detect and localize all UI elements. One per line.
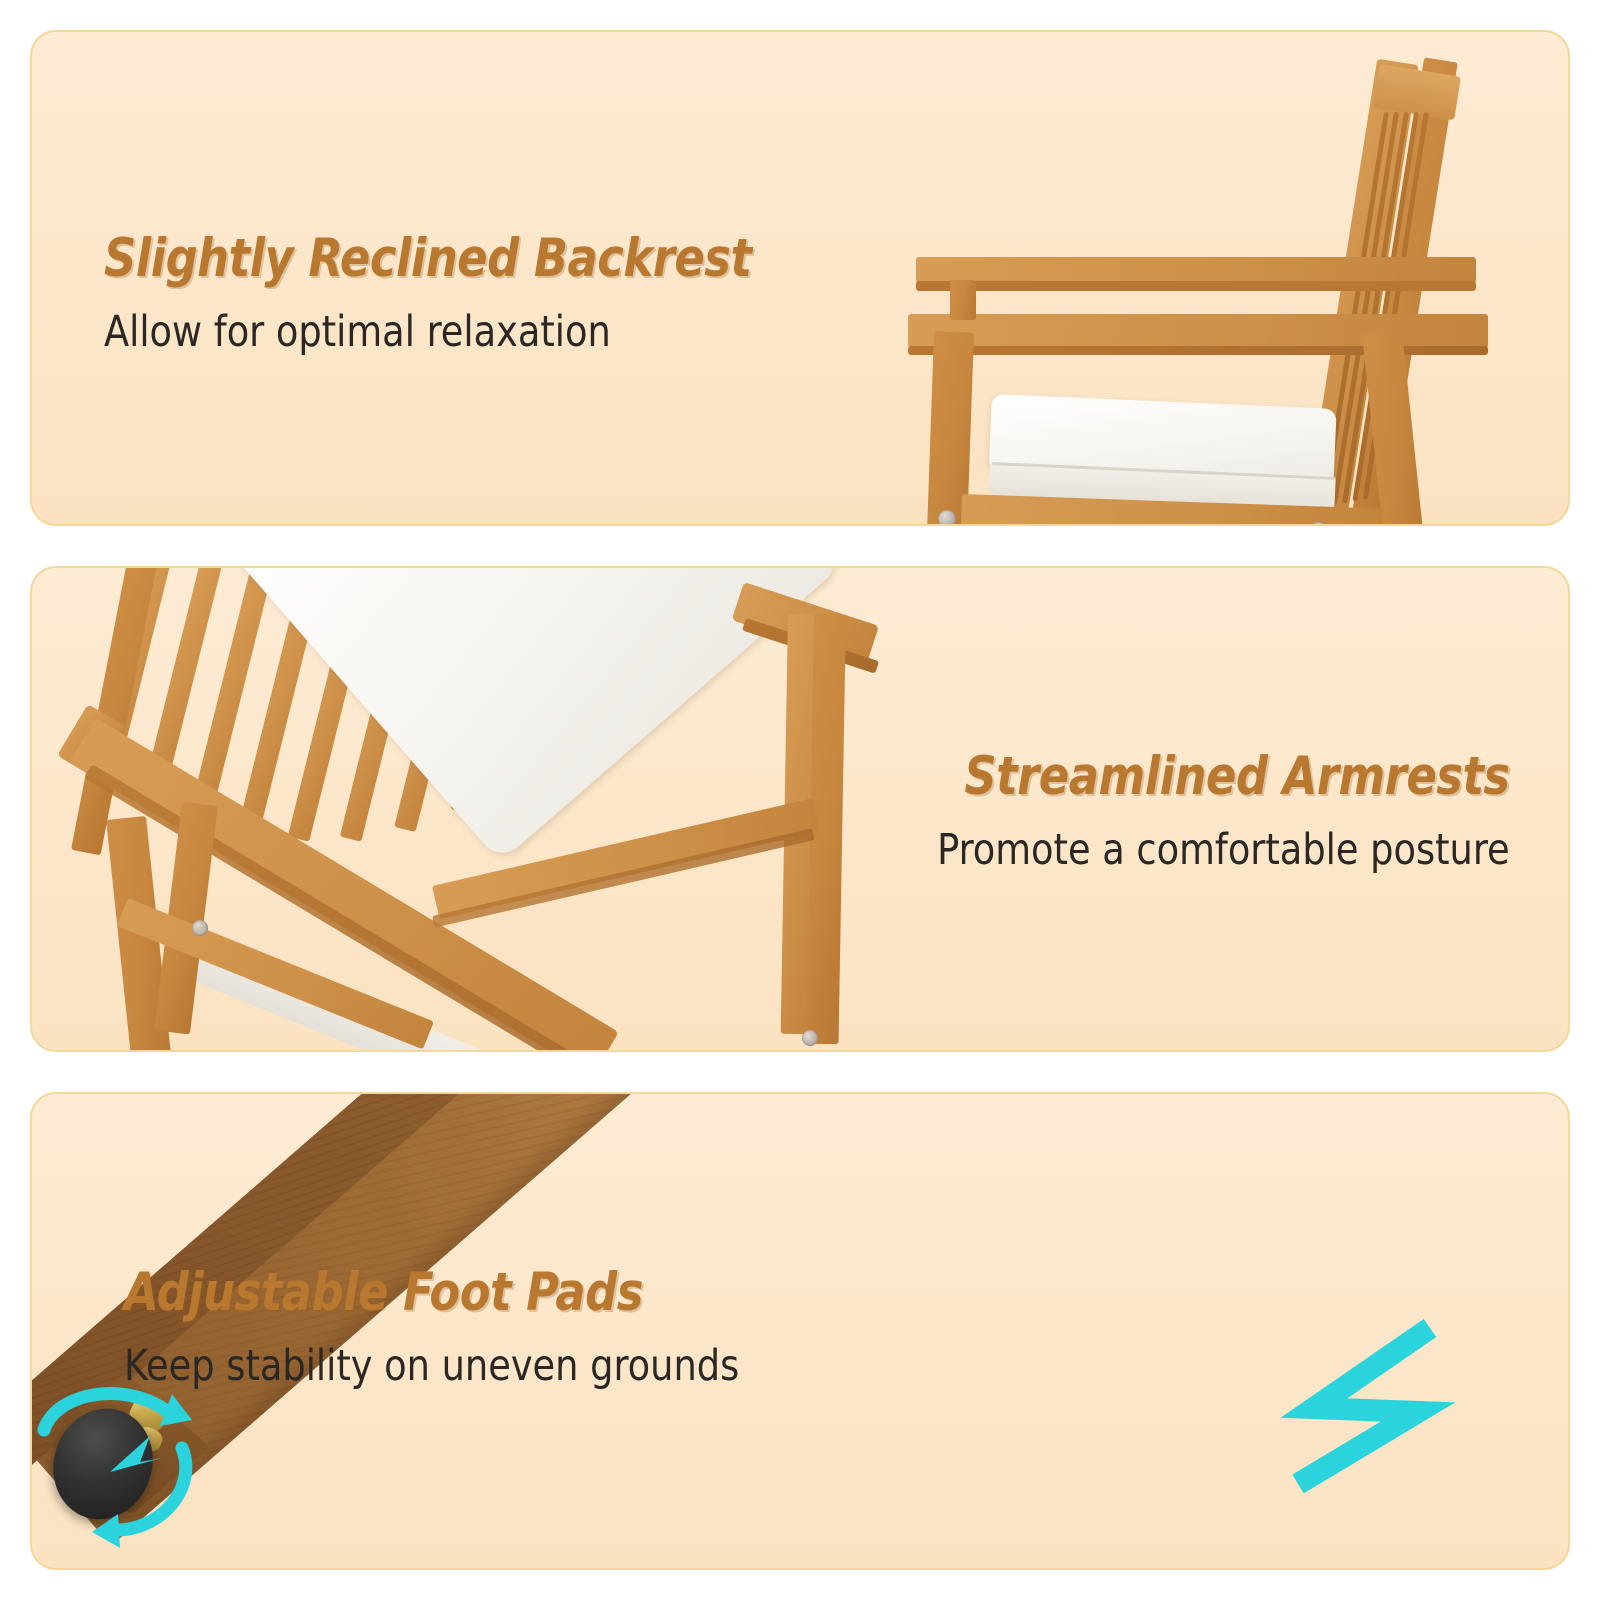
panel-3-text-block: Adjustable Foot Pads Keep stability on u… xyxy=(124,1262,772,1391)
panel-reclined-backrest: Slightly Reclined Backrest Allow for opt… xyxy=(30,30,1570,526)
panel-2-headline: Streamlined Armrests xyxy=(944,746,1510,807)
panel-3-headline: Adjustable Foot Pads xyxy=(124,1262,733,1323)
panel-1-text-block: Slightly Reclined Backrest Allow for opt… xyxy=(104,228,793,357)
panel-3-subline: Keep stability on uneven grounds xyxy=(124,1341,739,1391)
panel-2-subline: Promote a comfortable posture xyxy=(937,825,1510,875)
panel-adjustable-foot-pads: Adjustable Foot Pads Keep stability on u… xyxy=(30,1092,1570,1570)
panel-1-headline: Slightly Reclined Backrest xyxy=(104,228,751,289)
rotation-arrow-icon xyxy=(30,1376,252,1566)
panel-streamlined-armrests: Streamlined Armrests Promote a comfortab… xyxy=(30,566,1570,1052)
panel-2-text-block: Streamlined Armrests Promote a comfortab… xyxy=(907,746,1510,875)
uneven-ground-arrow-icon xyxy=(1262,1316,1462,1496)
panel-1-subline: Allow for optimal relaxation xyxy=(104,307,758,357)
infographic-page: Slightly Reclined Backrest Allow for opt… xyxy=(0,0,1600,1600)
